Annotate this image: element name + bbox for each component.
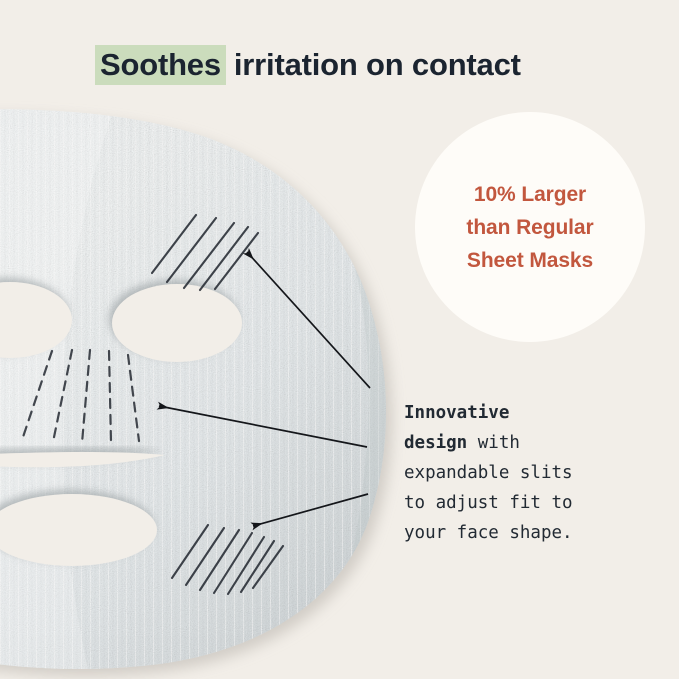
caption-line4: to adjust fit to: [404, 493, 573, 513]
headline: Soothesirritation on contact: [100, 42, 521, 88]
badge-line-2: than Regular: [466, 211, 593, 244]
sheet-mask-illustration: [0, 0, 679, 679]
caption-line5: your face shape.: [404, 523, 573, 543]
eye-opening-right: [112, 284, 242, 362]
product-feature-graphic: Soothesirritation on contact 10% Larger …: [0, 0, 679, 679]
caption-bold-line1: Innovative: [404, 403, 509, 423]
feature-caption: Innovative design with expandable slits …: [404, 398, 654, 548]
caption-line2-rest: with: [467, 433, 520, 453]
headline-highlight: Soothes: [95, 45, 226, 85]
mask-body-group: [0, 90, 420, 679]
size-claim-badge: 10% Larger than Regular Sheet Masks: [415, 112, 645, 342]
caption-bold-line2: design: [404, 433, 467, 453]
headline-rest: irritation on contact: [226, 47, 521, 82]
badge-line-3: Sheet Masks: [467, 244, 593, 277]
badge-line-1: 10% Larger: [474, 178, 586, 211]
caption-line3: expandable slits: [404, 463, 573, 483]
